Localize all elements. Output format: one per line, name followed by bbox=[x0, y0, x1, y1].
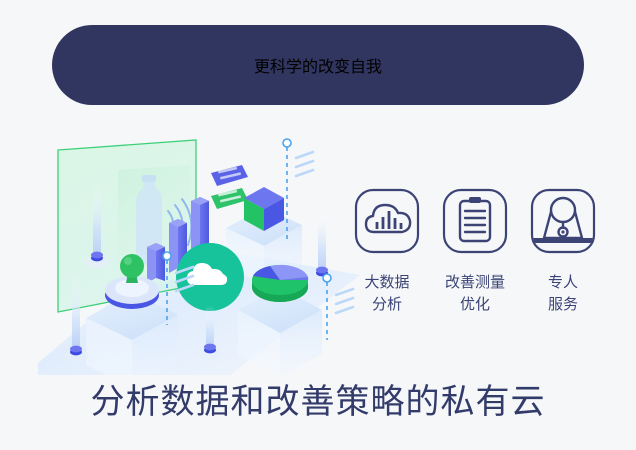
label-card-green bbox=[211, 188, 248, 209]
illustration-svg bbox=[30, 125, 360, 375]
feature-list: 大数据 分析 改善测量 优化 bbox=[352, 188, 598, 338]
clipboard-icon bbox=[442, 188, 508, 254]
feature-label: 专人 服务 bbox=[548, 272, 578, 316]
feature-item-measurement-optimization[interactable]: 改善测量 优化 bbox=[440, 188, 510, 338]
cloud-bar-chart-icon bbox=[354, 188, 420, 254]
feature-label: 大数据 分析 bbox=[364, 272, 409, 316]
title-banner: 更科学的改变自我 bbox=[52, 25, 584, 105]
cloud-badge bbox=[176, 243, 244, 311]
isometric-private-cloud-illustration bbox=[30, 125, 360, 375]
support-agent-icon bbox=[530, 188, 596, 254]
feature-item-big-data-analysis[interactable]: 大数据 分析 bbox=[352, 188, 422, 338]
feature-item-dedicated-service[interactable]: 专人 服务 bbox=[528, 188, 598, 338]
label-card-blue bbox=[211, 165, 248, 186]
bar-1 bbox=[147, 243, 165, 283]
pie-chart-3d bbox=[252, 265, 308, 302]
tagline: 分析数据和改善策略的私有云 bbox=[0, 384, 636, 421]
feature-label: 改善测量 优化 bbox=[445, 272, 505, 316]
page-title: 更科学的改变自我 bbox=[254, 53, 382, 77]
